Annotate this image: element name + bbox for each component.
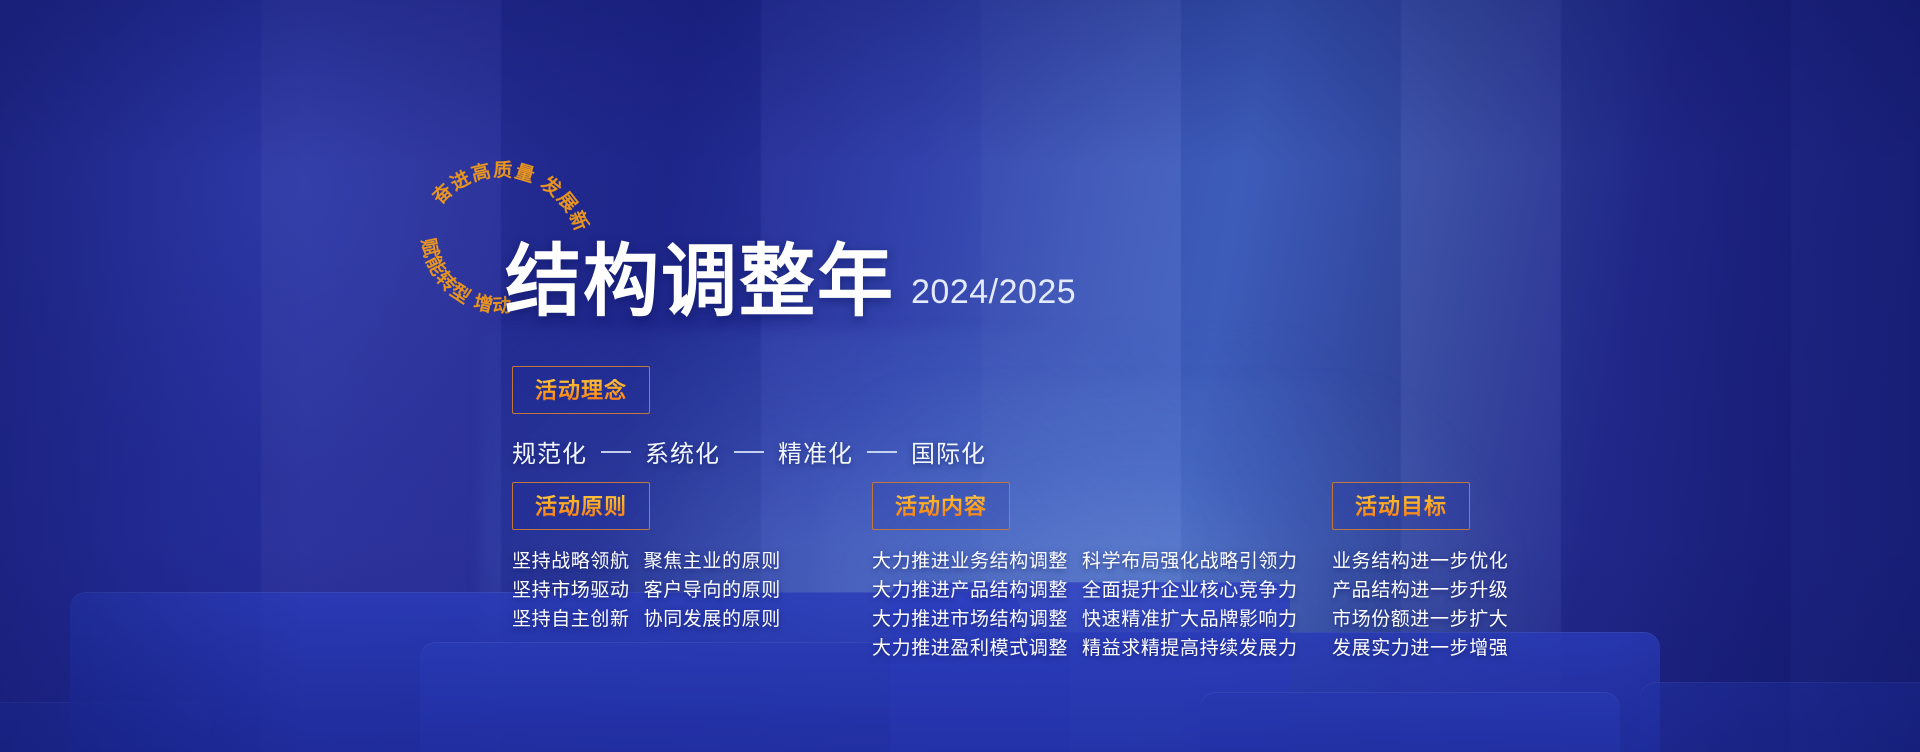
list-item: 坚持战略领航 聚焦主业的原则	[512, 548, 781, 576]
badge-activity-goals: 活动目标	[1332, 482, 1470, 530]
title-row: 结构调整年 2024/2025	[505, 245, 1076, 321]
dash-separator-icon	[601, 451, 631, 453]
list-item-left: 大力推进市场结构调整	[872, 606, 1068, 634]
list-item-left: 大力推进业务结构调整	[872, 548, 1068, 576]
list-item: 市场份额进一步扩大	[1332, 606, 1508, 634]
list-item-left: 发展实力进一步增强	[1332, 635, 1508, 663]
list-item-right: 协同发展的原则	[644, 606, 781, 634]
list-item: 坚持市场驱动 客户导向的原则	[512, 577, 781, 605]
list-item-left: 业务结构进一步优化	[1332, 548, 1508, 576]
list-item-left: 坚持战略领航	[512, 548, 630, 576]
badge-label: 活动理念	[535, 379, 627, 404]
activity-idea-list: 规范化 系统化 精准化 国际化	[512, 434, 986, 469]
list-item-right: 聚焦主业的原则	[644, 548, 781, 576]
list-item-left: 坚持市场驱动	[512, 577, 630, 605]
content-list: 大力推进业务结构调整 科学布局强化战略引领力 大力推进产品结构调整 全面提升企业…	[872, 548, 1298, 663]
list-item: 大力推进市场结构调整 快速精准扩大品牌影响力	[872, 606, 1298, 634]
badge-label: 活动原则	[535, 495, 627, 520]
emblem-ring-text-lower: 赋能转型 增动能	[398, 122, 514, 317]
section-activity-principles: 活动原则 坚持战略领航 聚焦主业的原则 坚持市场驱动 客户导向的原则 坚持自主创…	[512, 482, 781, 635]
list-item: 业务结构进一步优化	[1332, 548, 1508, 576]
list-item-left: 大力推进产品结构调整	[872, 577, 1068, 605]
list-item: 产品结构进一步升级	[1332, 577, 1508, 605]
principles-list: 坚持战略领航 聚焦主业的原则 坚持市场驱动 客户导向的原则 坚持自主创新 协同发…	[512, 548, 781, 634]
idea-item: 系统化	[645, 434, 720, 469]
list-item-left: 坚持自主创新	[512, 606, 630, 634]
list-item-left: 市场份额进一步扩大	[1332, 606, 1508, 634]
section-activity-idea: 活动理念 规范化 系统化 精准化 国际化	[512, 366, 986, 469]
list-item: 坚持自主创新 协同发展的原则	[512, 606, 781, 634]
list-item: 大力推进业务结构调整 科学布局强化战略引领力	[872, 548, 1298, 576]
section-activity-goals: 活动目标 业务结构进一步优化 产品结构进一步升级 市场份额进一步扩大 发展实力进…	[1332, 482, 1508, 664]
list-item: 发展实力进一步增强	[1332, 635, 1508, 663]
badge-label: 活动目标	[1355, 495, 1447, 520]
poster-canvas: 奋进高质量 发展新征程 赋能转型 增动能 结构调整年 2024/2025 活动理…	[0, 0, 1920, 752]
idea-item: 国际化	[911, 434, 986, 469]
dash-separator-icon	[867, 451, 897, 453]
list-item-right: 精益求精提高持续发展力	[1082, 635, 1298, 663]
list-item-right: 科学布局强化战略引领力	[1082, 548, 1298, 576]
badge-activity-content: 活动内容	[872, 482, 1010, 530]
list-item-right: 全面提升企业核心竞争力	[1082, 577, 1298, 605]
list-item-right: 客户导向的原则	[644, 577, 781, 605]
goals-list: 业务结构进一步优化 产品结构进一步升级 市场份额进一步扩大 发展实力进一步增强	[1332, 548, 1508, 663]
list-item-right: 快速精准扩大品牌影响力	[1082, 606, 1298, 634]
list-item-left: 大力推进盈利模式调整	[872, 635, 1068, 663]
list-item: 大力推进产品结构调整 全面提升企业核心竞争力	[872, 577, 1298, 605]
badge-label: 活动内容	[895, 495, 987, 520]
title-year: 2024/2025	[911, 273, 1076, 321]
page-title: 结构调整年	[505, 242, 895, 321]
dash-separator-icon	[734, 451, 764, 453]
badge-activity-idea: 活动理念	[512, 366, 650, 414]
idea-item: 精准化	[778, 434, 853, 469]
badge-activity-principles: 活动原则	[512, 482, 650, 530]
section-activity-content: 活动内容 大力推进业务结构调整 科学布局强化战略引领力 大力推进产品结构调整 全…	[872, 482, 1298, 664]
idea-item: 规范化	[512, 434, 587, 469]
emblem-ring-text-upper: 奋进高质量 发展新征程	[398, 122, 594, 235]
list-item-left: 产品结构进一步升级	[1332, 577, 1508, 605]
poster-content: 奋进高质量 发展新征程 赋能转型 增动能 结构调整年 2024/2025 活动理…	[0, 0, 1920, 752]
list-item: 大力推进盈利模式调整 精益求精提高持续发展力	[872, 635, 1298, 663]
